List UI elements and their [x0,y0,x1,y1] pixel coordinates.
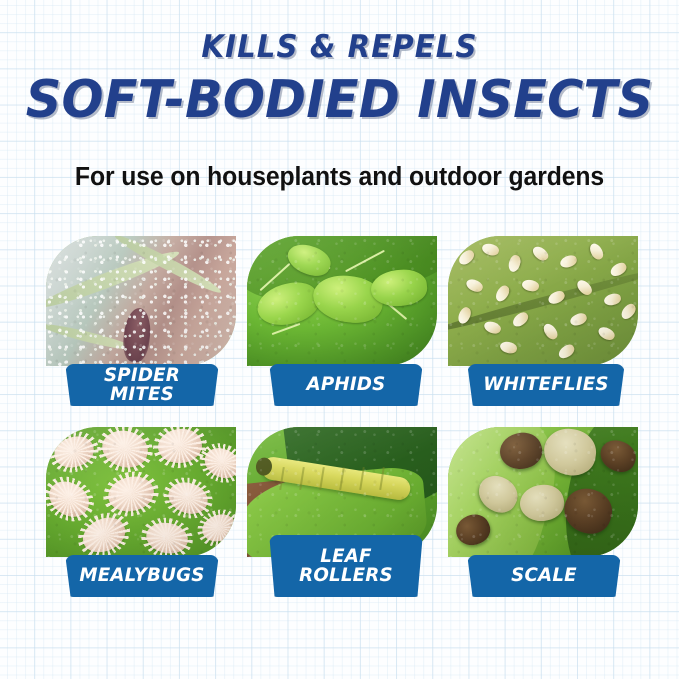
pest-label-spider-mites: SPIDER MITES [65,364,219,406]
headline-line-2: SOFT-BODIED INSECTS [17,74,662,126]
pest-label-leaf-rollers: LEAF ROLLERS [269,535,423,597]
pest-card-spider-mites: SPIDER MITES [46,236,236,406]
product-infographic: KILLS & REPELS SOFT-BODIED INSECTS For u… [0,0,679,679]
pest-label-scale: SCALE [467,555,621,597]
pest-card-leaf-rollers: LEAF ROLLERS [247,427,437,597]
headline-block: KILLS & REPELS SOFT-BODIED INSECTS [0,32,679,126]
pest-photo-scale [448,427,638,557]
photo-grain [448,236,638,366]
pest-photo-aphids [247,236,437,366]
pest-photo-mealybugs [46,427,236,557]
photo-grain [46,427,236,557]
pest-label-aphids: APHIDS [269,364,423,406]
pest-card-scale: SCALE [448,427,638,597]
headline-line-1: KILLS & REPELS [20,32,658,63]
photo-grain [46,236,236,366]
pest-photo-whiteflies [448,236,638,366]
pest-card-aphids: APHIDS [247,236,437,406]
pest-label-whiteflies: WHITEFLIES [467,364,624,406]
pest-photo-spider-mites [46,236,236,366]
pest-card-whiteflies: WHITEFLIES [448,236,638,406]
pest-card-mealybugs: MEALYBUGS [46,427,236,597]
photo-grain [448,427,638,557]
photo-grain [247,236,437,366]
pest-grid: SPIDER MITES APHID [46,236,638,597]
subtitle: For use on houseplants and outdoor garde… [10,163,669,192]
pest-label-mealybugs: MEALYBUGS [65,555,219,597]
